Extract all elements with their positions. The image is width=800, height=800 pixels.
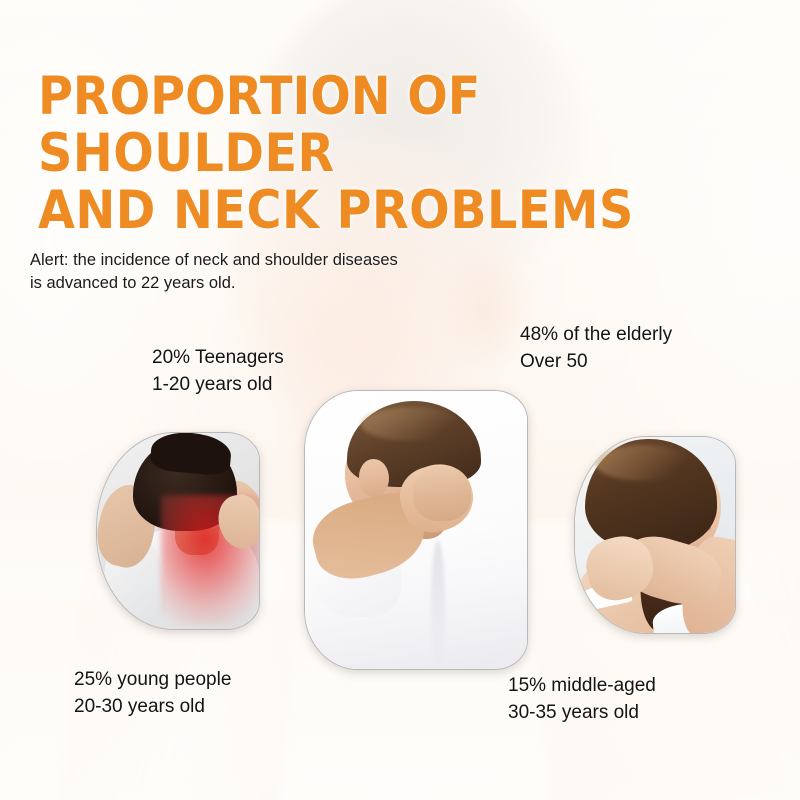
subtitle-line-2: is advanced to 22 years old.: [30, 272, 500, 296]
woman-hair-sheen: [595, 445, 693, 481]
stat-age-middle-aged: 30-35 years old: [508, 700, 656, 727]
title-line-2: SHOULDER: [38, 127, 678, 180]
stat-caption-middle-aged: 15% middle-aged 30-35 years old: [508, 673, 656, 727]
adult-fingers: [413, 467, 471, 521]
stat-percent-teenagers: 20% Teenagers: [152, 345, 284, 372]
photo-panel-adult: [304, 390, 528, 670]
stat-age-teenagers: 1-20 years old: [152, 372, 284, 399]
stat-age-elderly: Over 50: [520, 349, 672, 376]
title-line-1: PROPORTION OF: [38, 70, 678, 123]
stat-caption-teenagers: 20% Teenagers 1-20 years old: [152, 345, 284, 399]
adult-shirt-fold: [431, 541, 445, 670]
stat-percent-elderly: 48% of the elderly: [520, 322, 672, 349]
title-line-3: AND NECK PROBLEMS: [38, 184, 678, 237]
stat-caption-young-people: 25% young people 20-30 years old: [74, 667, 231, 721]
stat-percent-middle-aged: 15% middle-aged: [508, 673, 656, 700]
page-title: PROPORTION OF SHOULDER AND NECK PROBLEMS: [38, 70, 678, 237]
subtitle-line-1: Alert: the incidence of neck and shoulde…: [30, 249, 500, 273]
adult-ear: [359, 459, 389, 497]
adult-hair-sheen: [361, 407, 461, 441]
infographic-poster: PROPORTION OF SHOULDER AND NECK PROBLEMS…: [0, 0, 800, 800]
stat-age-young-people: 20-30 years old: [74, 694, 231, 721]
photo-panel-teenagers: [96, 432, 260, 630]
stat-caption-elderly: 48% of the elderly Over 50: [520, 322, 672, 376]
stat-percent-young-people: 25% young people: [74, 667, 231, 694]
alert-subtitle: Alert: the incidence of neck and shoulde…: [30, 249, 500, 297]
photo-panel-woman: [574, 436, 736, 634]
